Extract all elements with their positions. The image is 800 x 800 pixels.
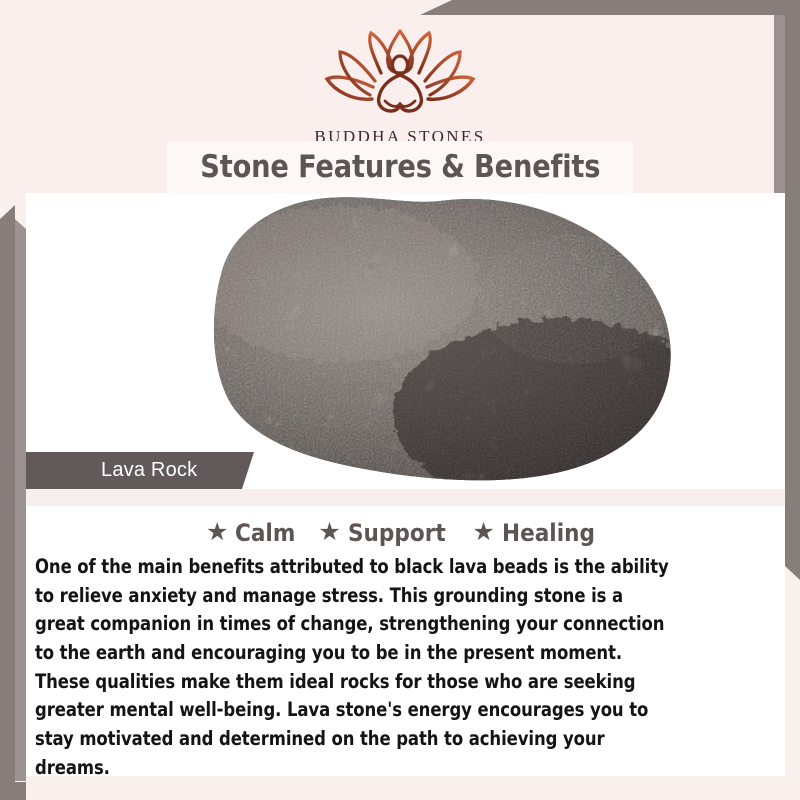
star-icon: ★: [206, 520, 228, 545]
frame-right-bar: [785, 0, 800, 580]
feature-item-calm: ★ Calm: [206, 519, 302, 547]
photo-caption-bar: Lava Rock: [26, 452, 254, 489]
star-icon: ★: [318, 520, 340, 545]
feature-item-healing: ★ Healing: [472, 519, 605, 547]
star-icon: ★: [472, 520, 494, 545]
photo-caption-text: Lava Rock: [101, 459, 197, 482]
feature-list: ★ Calm ★ Support ★ Healing: [26, 519, 785, 547]
poster-root: BUDDHA STONES Stone Features & Benefits: [0, 0, 800, 800]
brand-logo: BUDDHA STONES: [26, 25, 774, 147]
feature-label: Healing: [502, 519, 595, 547]
divider-strip: [26, 489, 785, 506]
feature-label: Calm: [235, 519, 295, 547]
description-text: One of the main benefits attributed to b…: [35, 553, 676, 782]
feature-label: Support: [348, 519, 446, 547]
title-banner: Stone Features & Benefits: [167, 141, 633, 193]
feature-item-support: ★ Support: [318, 519, 456, 547]
lava-rock-image: [104, 193, 724, 489]
frame-left-shade: [15, 219, 26, 781]
page-title: Stone Features & Benefits: [200, 149, 600, 185]
bottom-cream-strip: [26, 776, 785, 800]
lotus-meditation-logo-icon: [315, 25, 485, 125]
frame-top-right-bar: [420, 0, 800, 15]
photo-panel: [26, 193, 785, 489]
frame-left-bar: [0, 205, 15, 800]
content-panel: ★ Calm ★ Support ★ Healing One of the ma…: [26, 506, 785, 776]
